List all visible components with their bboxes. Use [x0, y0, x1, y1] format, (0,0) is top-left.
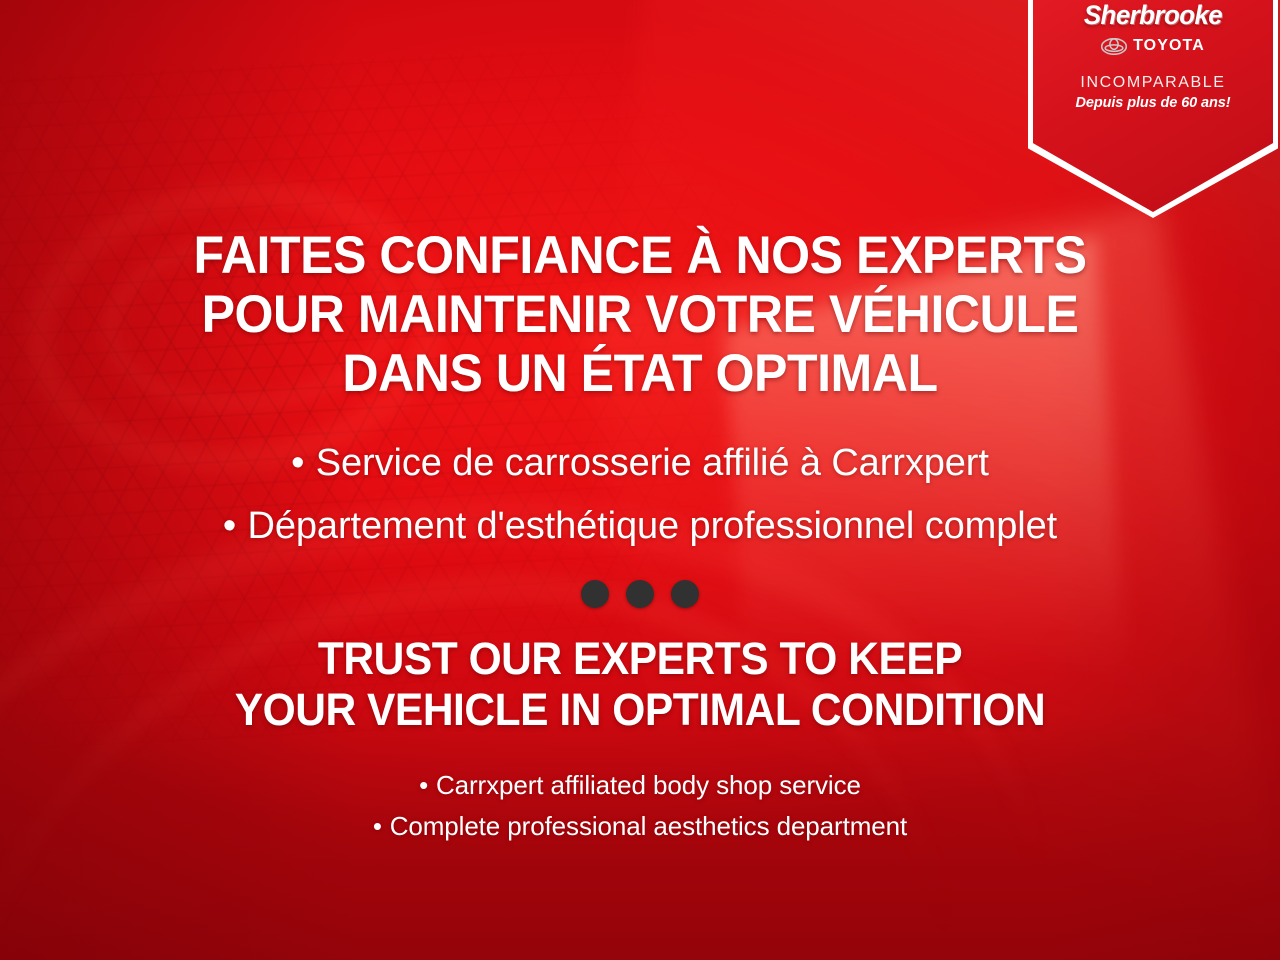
headline-french-line-3: DANS UN ÉTAT OPTIMAL — [35, 344, 1245, 403]
bullet-point-icon: • — [373, 806, 382, 847]
dealer-shield-banner[interactable]: Sherbrooke TOYOTA INCOMPARABLE Depuis pl… — [1028, 0, 1278, 218]
bullet-item-english-2-label: Complete professional aesthetics departm… — [390, 811, 907, 841]
shield-content: Sherbrooke TOYOTA INCOMPARABLE Depuis pl… — [1028, 0, 1278, 111]
bullet-item-english-1: •Carrxpert affiliated body shop service — [0, 765, 1280, 806]
divider-dot — [671, 580, 699, 608]
toyota-lockup: TOYOTA — [1028, 37, 1278, 55]
headline-french: FAITES CONFIANCE À NOS EXPERTS POUR MAIN… — [35, 226, 1245, 403]
divider-dot — [626, 580, 654, 608]
headline-english-line-1: TRUST OUR EXPERTS TO KEEP — [35, 633, 1245, 684]
bullet-item-english-1-label: Carrxpert affiliated body shop service — [436, 770, 861, 800]
divider-dot — [581, 580, 609, 608]
bullet-point-icon: • — [291, 432, 304, 495]
bullet-point-icon: • — [419, 765, 428, 806]
banner-tagline-sub: Depuis plus de 60 ans! — [1028, 95, 1278, 111]
dealer-brand-name: Sherbrooke — [1033, 0, 1273, 31]
bullet-item-french-1-label: Service de carrosserie affilié à Carrxpe… — [316, 442, 989, 484]
banner-tagline-main: INCOMPARABLE — [1028, 74, 1278, 92]
bullet-list-french: •Service de carrosserie affilié à Carrxp… — [0, 432, 1280, 558]
headline-english-line-2: YOUR VEHICLE IN OPTIMAL CONDITION — [35, 684, 1245, 735]
bullet-list-english: •Carrxpert affiliated body shop service … — [0, 765, 1280, 847]
bullet-item-french-1: •Service de carrosserie affilié à Carrxp… — [0, 432, 1280, 495]
bullet-item-french-2-label: Département d'esthétique professionnel c… — [248, 505, 1058, 547]
headline-french-line-2: POUR MAINTENIR VOTRE VÉHICULE — [35, 285, 1245, 344]
headline-english: TRUST OUR EXPERTS TO KEEP YOUR VEHICLE I… — [35, 633, 1245, 735]
toyota-emblem-icon — [1101, 38, 1127, 55]
bullet-item-english-2: •Complete professional aesthetics depart… — [0, 806, 1280, 847]
bullet-item-french-2: •Département d'esthétique professionnel … — [0, 495, 1280, 558]
three-dots-divider-icon — [0, 580, 1280, 608]
headline-french-line-1: FAITES CONFIANCE À NOS EXPERTS — [35, 226, 1245, 285]
promo-content: FAITES CONFIANCE À NOS EXPERTS POUR MAIN… — [0, 0, 1280, 960]
bullet-point-icon: • — [223, 495, 236, 558]
toyota-wordmark: TOYOTA — [1133, 37, 1205, 55]
